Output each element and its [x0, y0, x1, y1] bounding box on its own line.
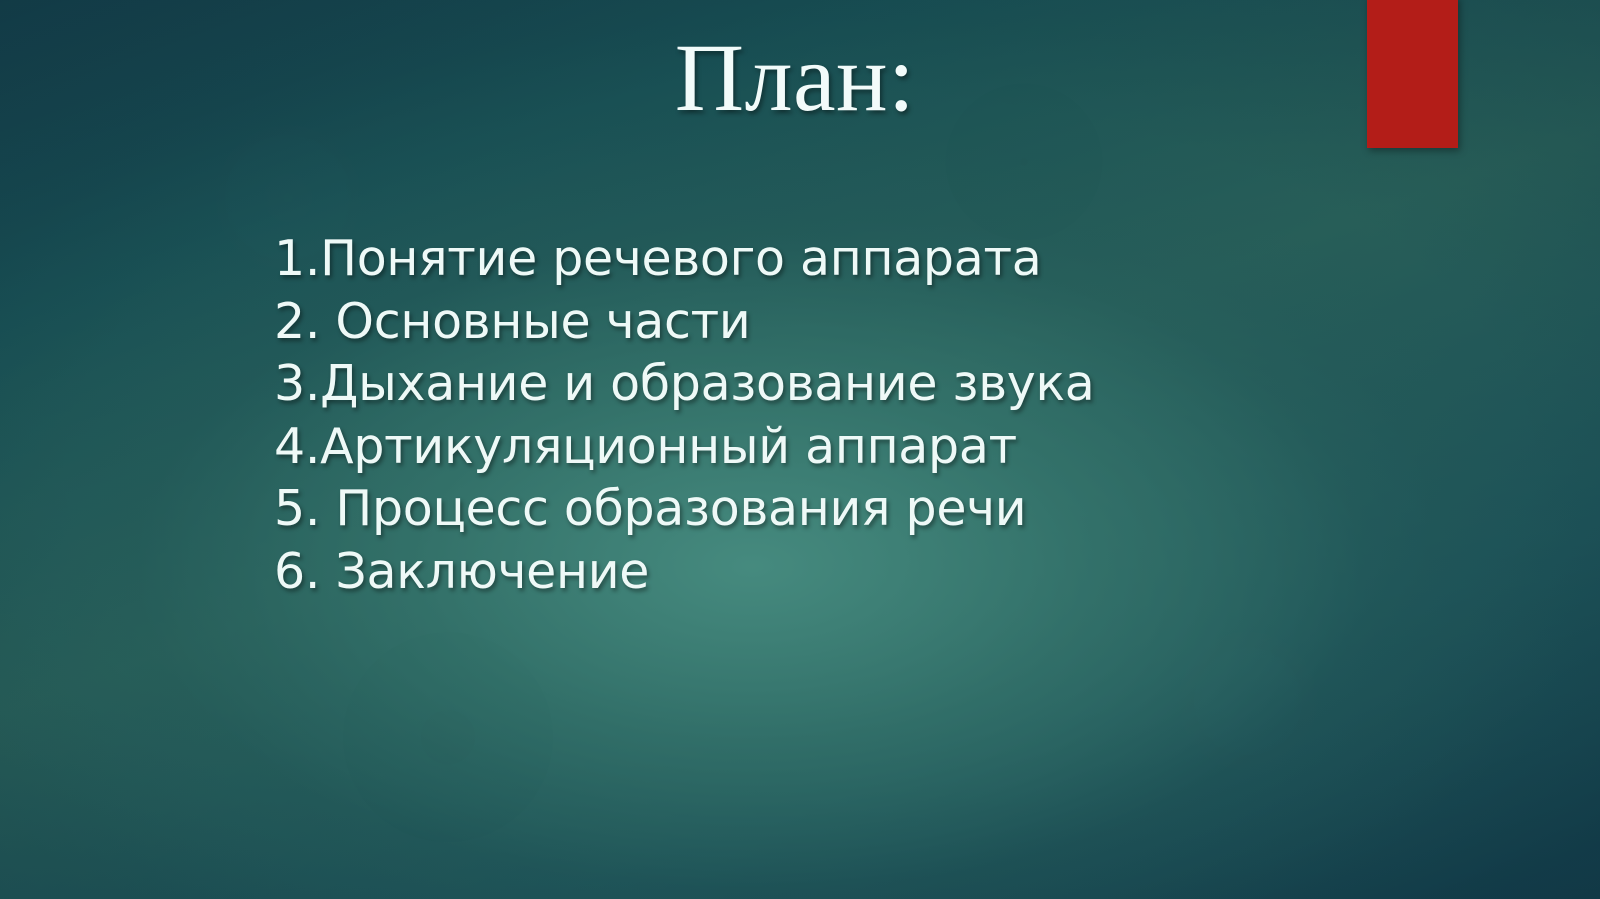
- list-item: 4.Артикуляционный аппарат: [274, 416, 1374, 479]
- slide-body-list: 1.Понятие речевого аппарата 2. Основные …: [274, 228, 1374, 603]
- presentation-slide: План: 1.Понятие речевого аппарата 2. Осн…: [0, 0, 1600, 899]
- list-item: 2. Основные части: [274, 291, 1374, 354]
- list-item: 1.Понятие речевого аппарата: [274, 228, 1374, 291]
- list-item: 6. Заключение: [274, 541, 1374, 604]
- list-item: 5. Процесс образования речи: [274, 478, 1374, 541]
- list-item: 3.Дыхание и образование звука: [274, 353, 1374, 416]
- slide-title: План:: [0, 28, 1590, 129]
